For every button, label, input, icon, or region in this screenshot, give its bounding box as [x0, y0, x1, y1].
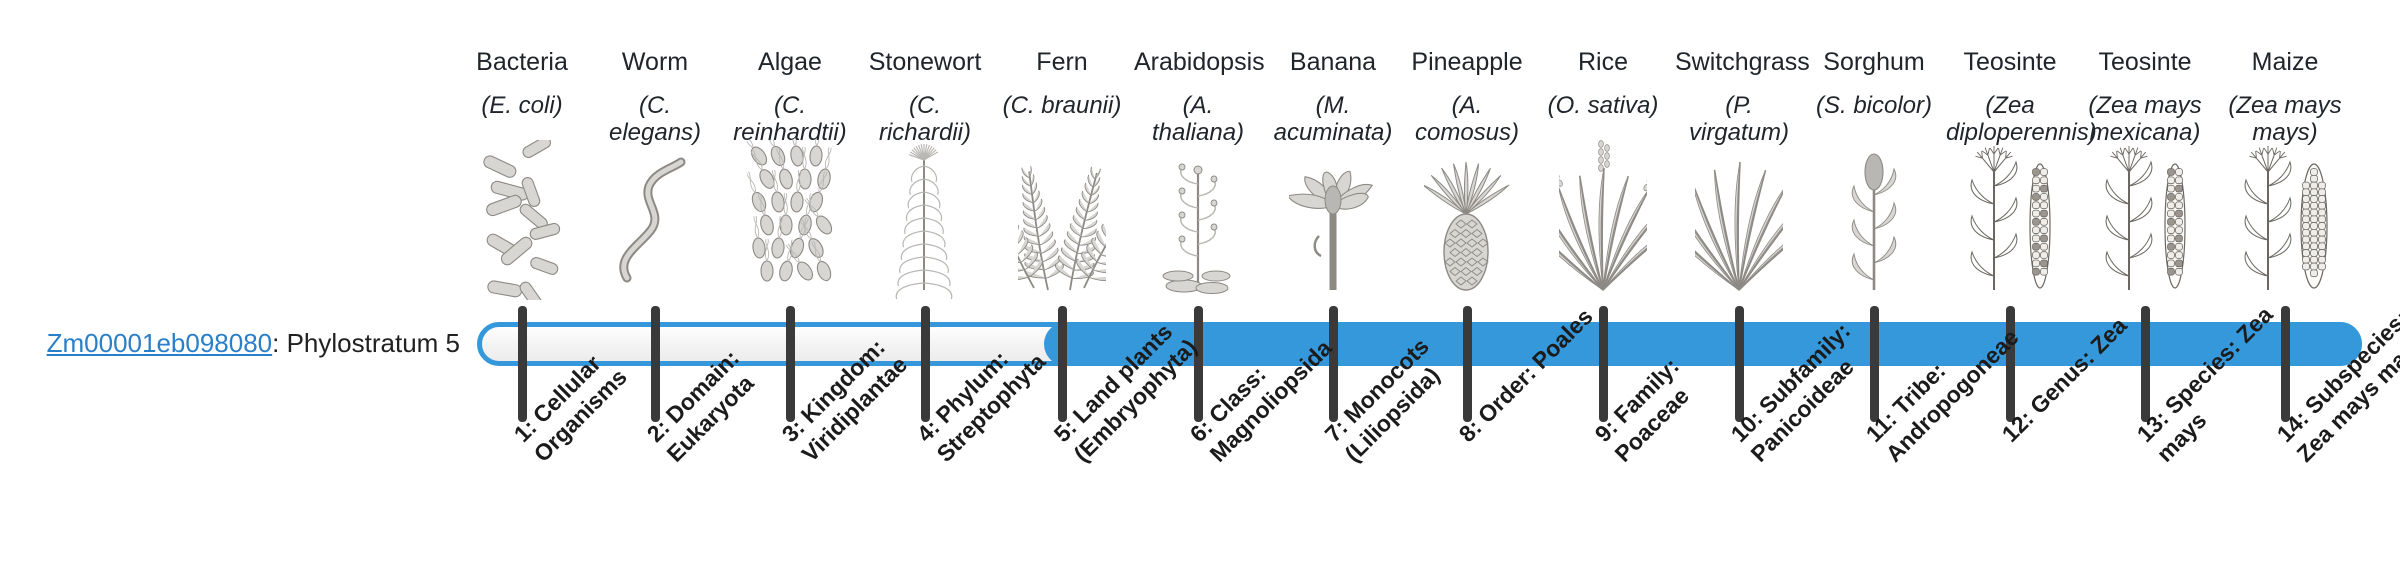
- rank-label-layer: 1: Cellular Organisms2: Domain: Eukaryot…: [0, 0, 2400, 580]
- phylostratum-diagram: Zm00001eb098080: Phylostratum 5 Bacteria…: [0, 0, 2400, 580]
